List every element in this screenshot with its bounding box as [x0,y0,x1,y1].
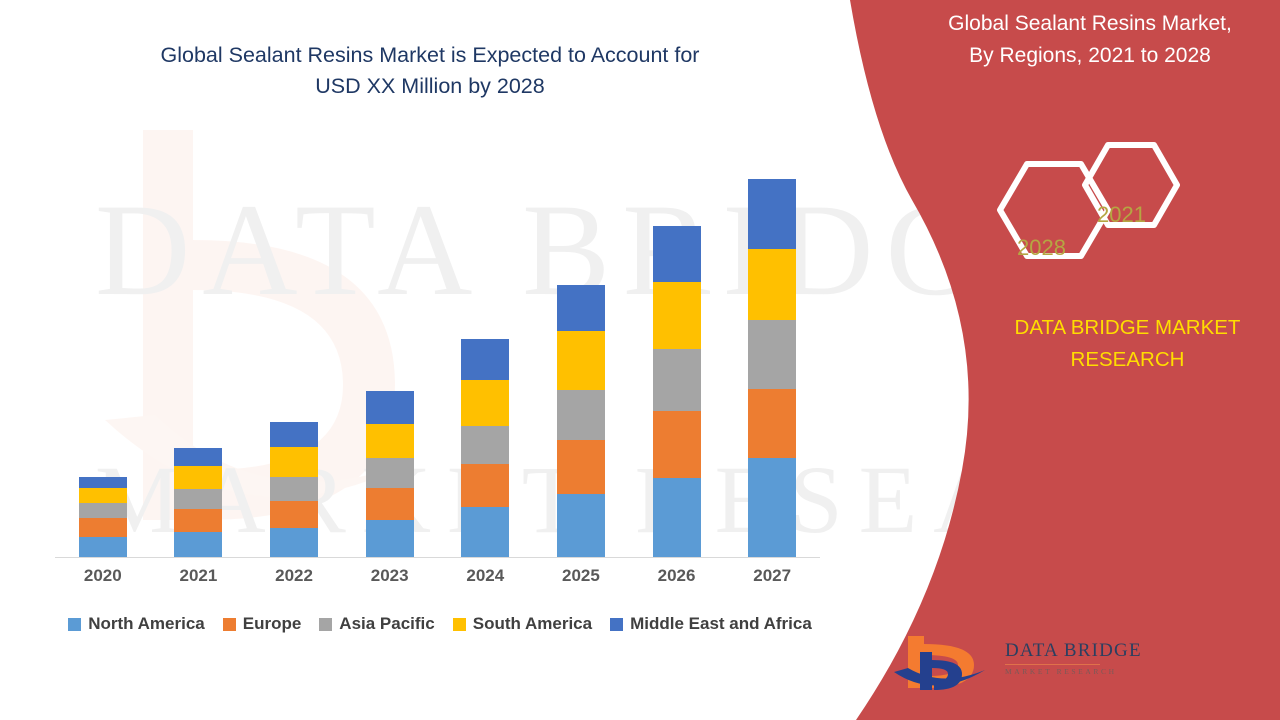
bar-segment[interactable] [748,389,796,458]
slide-canvas: DATA BRIDGE MARKET RESEARCH Global Seala… [0,0,1280,720]
chart-title-line-1: Global Sealant Resins Market is Expected… [60,40,800,71]
bar-segment[interactable] [557,494,605,557]
x-axis-labels: 20202021202220232024202520262027 [55,562,820,592]
legend-label: Asia Pacific [339,614,434,634]
right-panel-title: Global Sealant Resins Market, By Regions… [905,8,1275,72]
legend-swatch-icon [223,618,236,631]
bar-segment[interactable] [653,226,701,282]
legend-label: North America [88,614,205,634]
stacked-bar[interactable] [366,391,414,557]
hexagon-label-2028: 2028 [1017,235,1066,261]
logo-tagline: MARKET RESEARCH [1005,667,1105,676]
bar-column[interactable] [633,150,721,557]
bar-column[interactable] [59,150,147,557]
legend-item[interactable]: South America [453,614,592,634]
chart-title: Global Sealant Resins Market is Expected… [60,40,800,102]
plot-area [55,150,820,558]
bar-segment[interactable] [366,488,414,521]
legend-label: South America [473,614,592,634]
x-axis-tick-label: 2024 [441,562,529,592]
bar-segment[interactable] [270,447,318,477]
legend-item[interactable]: North America [68,614,205,634]
bar-segment[interactable] [366,391,414,424]
stacked-bar[interactable] [79,477,127,557]
bar-segment[interactable] [174,509,222,531]
right-panel-title-line-1: Global Sealant Resins Market, [905,8,1275,40]
bar-segment[interactable] [653,478,701,557]
legend-swatch-icon [319,618,332,631]
bar-segment[interactable] [270,477,318,501]
bar-segment[interactable] [557,390,605,440]
legend-item[interactable]: Asia Pacific [319,614,434,634]
bar-segment[interactable] [270,501,318,527]
bar-segment[interactable] [557,285,605,331]
bar-segment[interactable] [270,422,318,447]
bar-segment[interactable] [79,537,127,557]
legend-swatch-icon [453,618,466,631]
x-axis-tick-label: 2027 [728,562,816,592]
legend-swatch-icon [610,618,623,631]
brand-name-line-1: DATA BRIDGE MARKET [985,312,1270,344]
bar-segment[interactable] [557,440,605,494]
stacked-bar[interactable] [557,285,605,557]
brand-name-line-2: RESEARCH [985,344,1270,376]
stacked-bar[interactable] [748,179,796,557]
hexagon-pair: 2021 2028 [975,140,1185,290]
x-axis-tick-label: 2023 [346,562,434,592]
legend-item[interactable]: Middle East and Africa [610,614,812,634]
bar-segment[interactable] [461,380,509,426]
bar-column[interactable] [441,150,529,557]
chart-legend: North AmericaEuropeAsia PacificSouth Ame… [45,614,835,634]
bar-segment[interactable] [748,458,796,557]
chart-title-line-2: USD XX Million by 2028 [60,71,800,102]
bar-segment[interactable] [79,488,127,503]
stacked-bar[interactable] [653,226,701,557]
right-panel-title-line-2: By Regions, 2021 to 2028 [905,40,1275,72]
bar-segment[interactable] [174,532,222,557]
x-axis-tick-label: 2020 [59,562,147,592]
stacked-bar[interactable] [461,339,509,557]
bar-column[interactable] [250,150,338,557]
x-axis-tick-label: 2026 [633,562,721,592]
bar-segment[interactable] [653,349,701,410]
bar-column[interactable] [346,150,434,557]
x-axis-tick-label: 2025 [537,562,625,592]
x-axis-tick-label: 2021 [154,562,242,592]
bar-segment[interactable] [748,320,796,389]
data-bridge-logo-text: DATA BRIDGE MARKET RESEARCH [1005,640,1105,676]
bar-segment[interactable] [557,331,605,390]
bar-segment[interactable] [174,448,222,466]
legend-swatch-icon [68,618,81,631]
x-axis-line [55,557,820,558]
bar-segment[interactable] [461,507,509,557]
bar-segment[interactable] [174,489,222,509]
bar-segment[interactable] [270,528,318,558]
stacked-bar[interactable] [270,422,318,557]
bar-segment[interactable] [461,339,509,380]
bar-segment[interactable] [79,477,127,488]
logo-name: DATA BRIDGE [1005,640,1105,662]
bar-segment[interactable] [653,411,701,478]
bar-segment[interactable] [79,503,127,518]
bar-segment[interactable] [748,179,796,249]
legend-label: Europe [243,614,302,634]
bar-segment[interactable] [366,520,414,557]
bar-segment[interactable] [461,464,509,507]
x-axis-tick-label: 2022 [250,562,338,592]
bar-segment[interactable] [461,426,509,465]
bar-column[interactable] [537,150,625,557]
bar-column[interactable] [728,150,816,557]
bar-segment[interactable] [748,249,796,320]
bar-group [55,150,820,557]
bar-segment[interactable] [653,282,701,349]
logo-divider [1005,664,1100,665]
bar-segment[interactable] [366,458,414,488]
bar-segment[interactable] [174,466,222,488]
legend-label: Middle East and Africa [630,614,812,634]
brand-name: DATA BRIDGE MARKET RESEARCH [985,312,1270,376]
legend-item[interactable]: Europe [223,614,302,634]
bar-segment[interactable] [366,424,414,459]
bar-column[interactable] [154,150,242,557]
stacked-bar[interactable] [174,448,222,557]
bar-segment[interactable] [79,518,127,536]
hexagon-label-2021: 2021 [1097,202,1146,228]
